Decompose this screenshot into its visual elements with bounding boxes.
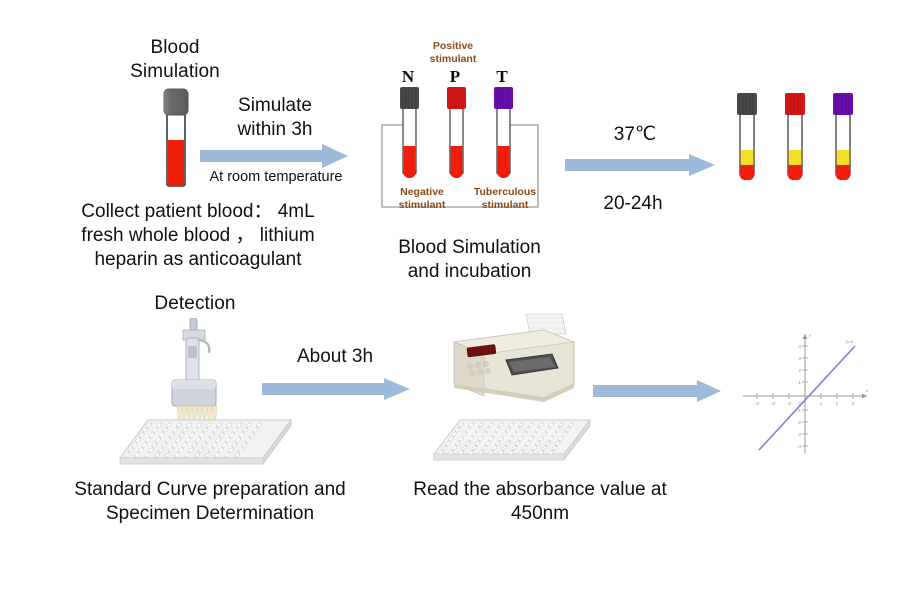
tube-letter-P: P: [440, 66, 470, 87]
arrow1-sublabel: At room temperature: [196, 168, 356, 186]
arrow3-label: About 3h: [265, 345, 405, 369]
stage2-caption: Blood Simulation and incubation: [372, 236, 567, 284]
standard-curve-plot: -4-3-2 123 4321 -1-2-3-4 O y x y=x: [735, 328, 875, 458]
svg-text:x: x: [865, 389, 869, 394]
stage4-caption: Standard Curve preparation and Specimen …: [50, 478, 370, 526]
svg-text:-2: -2: [797, 420, 801, 425]
microplate-detection: [118, 418, 293, 466]
microplate-reader-plate: [432, 418, 592, 462]
stage1-title: Blood Simulation: [110, 36, 240, 84]
incubated-tube-positive: [779, 92, 811, 184]
svg-text:4: 4: [799, 344, 802, 349]
blood-collection-tube: [155, 88, 197, 193]
incubated-tube-tuberculous: [827, 92, 859, 184]
arrow-simulate: [200, 144, 348, 168]
tuberculous-stimulant-label: Tuberculous stimulant: [466, 186, 544, 211]
svg-text:-2: -2: [787, 401, 791, 406]
positive-stimulant-label: Positive stimulant: [418, 40, 488, 65]
stage4-title: Detection: [135, 292, 255, 316]
arrow-readout: [593, 380, 721, 402]
svg-text:-4: -4: [755, 401, 759, 406]
svg-text:3: 3: [852, 401, 855, 406]
arrow2-label: 37℃: [575, 123, 695, 147]
arrow-incubate: [565, 154, 715, 176]
arrow2-sublabel: 20-24h: [573, 192, 693, 216]
arrow-detection: [262, 378, 410, 400]
svg-text:-4: -4: [797, 444, 801, 449]
svg-text:y: y: [808, 334, 812, 339]
stimulant-tube-positive: [441, 86, 471, 182]
stimulant-tube-tuberculous: [488, 86, 518, 182]
svg-text:3: 3: [799, 356, 802, 361]
svg-text:1: 1: [799, 380, 802, 385]
svg-text:-3: -3: [771, 401, 775, 406]
tube-letter-T: T: [487, 66, 517, 87]
arrow1-label: Simulate within 3h: [205, 94, 345, 142]
multichannel-pipette: [150, 318, 246, 428]
stimulant-tube-negative: [394, 86, 424, 182]
negative-stimulant-label: Negative stimulant: [386, 186, 458, 211]
incubated-tube-negative: [731, 92, 763, 184]
tube-letter-N: N: [393, 66, 423, 87]
stage1-caption: Collect patient blood： 4mL fresh whole b…: [48, 200, 348, 271]
plot-line-label: y=x: [846, 339, 854, 344]
svg-text:1: 1: [820, 401, 823, 406]
microplate-reader: [440, 312, 580, 417]
stage5-caption: Read the absorbance value at 450nm: [385, 478, 695, 526]
svg-text:2: 2: [799, 368, 802, 373]
svg-text:-3: -3: [797, 432, 801, 437]
workflow-diagram: Blood Simulation Collect patient blood： …: [0, 0, 904, 594]
svg-text:2: 2: [836, 401, 839, 406]
